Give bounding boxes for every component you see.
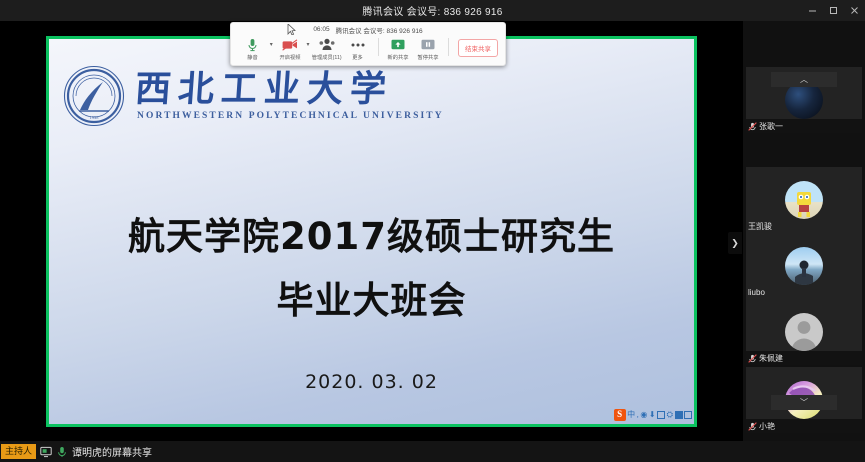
mic-off-icon [748,122,757,131]
video-button[interactable]: 开启视频 [275,36,305,61]
control-divider-2 [448,38,449,56]
skin-icon[interactable]: ◉ [640,411,647,419]
participant-name-row: 朱佩建 [746,351,862,365]
manage-members-button[interactable]: 管理成员(11) [311,36,342,61]
host-badge: 主持人 [1,444,36,459]
monitor-icon [40,446,52,458]
pause-icon [421,37,435,52]
panel-icon[interactable] [684,411,692,419]
university-logo: 1938 西北工业大学 NORTHWESTERN POLYTECHNICAL U… [63,65,444,127]
university-name-en: NORTHWESTERN POLYTECHNICAL UNIVERSITY [137,111,444,121]
mute-label: 静音 [248,53,258,61]
pause-share-button[interactable]: 暂停共享 [413,36,443,61]
cursor-arrow-icon [287,24,296,35]
chinese-mode-icon[interactable]: 中 [627,411,635,419]
window-title: 腾讯会议 会议号: 836 926 916 [362,3,502,18]
mic-off-icon [748,422,757,431]
mute-caret-icon[interactable]: ▾ [268,41,275,48]
close-button[interactable] [844,0,865,21]
tencent-meeting-window: 腾讯会议 会议号: 836 926 916 [0,0,865,462]
avatar [785,247,823,285]
share-frame-bottom [46,424,697,427]
share-frame-right [694,36,697,427]
expression-icon[interactable]: ⛭ [667,411,673,419]
participant-name-row: 王凯骏 [746,219,862,233]
control-bar-header: 06:05 腾讯会议 会议号: 836 926 916 [231,23,505,36]
participant-name: liubo [748,288,765,297]
microphone-icon [247,37,258,52]
end-share-button[interactable]: 结束共享 [458,39,498,57]
participant-panel: ︿ 张歌一 [743,21,865,462]
toolbox-icon[interactable] [657,411,665,419]
control-buttons-row: 静音 ▾ 开启视频 ▾ [231,36,505,66]
members-icon [319,37,335,52]
collapse-panel-button[interactable]: ❯ [728,232,742,254]
window-titlebar: 腾讯会议 会议号: 836 926 916 [0,0,865,21]
slide-title-line1: 航天学院2017级硕士研究生 [49,205,694,269]
slide-date: 2020. 03. 02 [49,371,694,393]
scroll-down-button[interactable]: ﹀ [771,395,837,410]
keyboard-icon[interactable]: ⬇ [649,411,656,419]
slide-title-line2: 毕业大班会 [49,269,694,333]
slide-title: 航天学院2017级硕士研究生 毕业大班会 [49,205,694,332]
meeting-id-label: 腾讯会议 会议号: 836 926 916 [336,25,423,35]
sogou-ime-toolbar[interactable]: S 中 , ◉ ⬇ ⛭ [612,407,694,422]
more-label: 更多 [352,53,362,61]
participant-tile[interactable]: 朱佩建 [746,299,862,365]
university-seal-icon: 1938 [63,65,125,127]
participant-name: 王凯骏 [748,221,772,232]
control-divider [378,38,379,56]
camera-off-icon [282,37,298,52]
participant-name-row: 张歌一 [746,119,862,133]
pause-share-label: 暂停共享 [418,53,439,61]
microphone-icon [56,446,68,458]
mic-off-icon [748,354,757,363]
svg-text:1938: 1938 [90,115,100,120]
video-caret-icon[interactable]: ▾ [305,41,312,48]
university-name-cn: 西北工业大学 [134,71,445,109]
window-controls [802,0,865,21]
video-label: 开启视频 [279,53,300,61]
minimize-button[interactable] [802,0,823,21]
share-status-text: 谭明虎的屏幕共享 [72,444,152,459]
punctuation-icon[interactable]: , [637,411,639,419]
avatar [785,313,823,351]
mute-button[interactable]: 静音 [238,36,268,61]
manage-members-label: 管理成员(11) [312,53,342,61]
new-share-label: 新的共享 [388,53,409,61]
shared-screen-content: 1938 西北工业大学 NORTHWESTERN POLYTECHNICAL U… [49,39,694,424]
sogou-logo-icon[interactable]: S [614,409,626,421]
participant-name-row: 小艳 [746,419,862,433]
scroll-up-button[interactable]: ︿ [771,72,837,87]
more-icon[interactable] [675,411,683,419]
status-bar: 主持人 谭明虎的屏幕共享 [0,441,865,462]
participant-name: 朱佩建 [759,353,783,364]
ellipsis-icon [350,37,366,52]
participant-name: 张歌一 [759,121,783,132]
meeting-control-bar: 06:05 腾讯会议 会议号: 836 926 916 静音 ▾ [230,22,506,66]
meeting-timer: 06:05 [313,26,329,33]
avatar [785,181,823,219]
new-share-button[interactable]: 新的共享 [383,36,413,61]
participant-name: 小艳 [759,421,775,432]
participant-name-row: liubo [746,285,862,299]
screen-share-icon [391,37,405,52]
more-button[interactable]: 更多 [343,36,373,61]
maximize-button[interactable] [823,0,844,21]
